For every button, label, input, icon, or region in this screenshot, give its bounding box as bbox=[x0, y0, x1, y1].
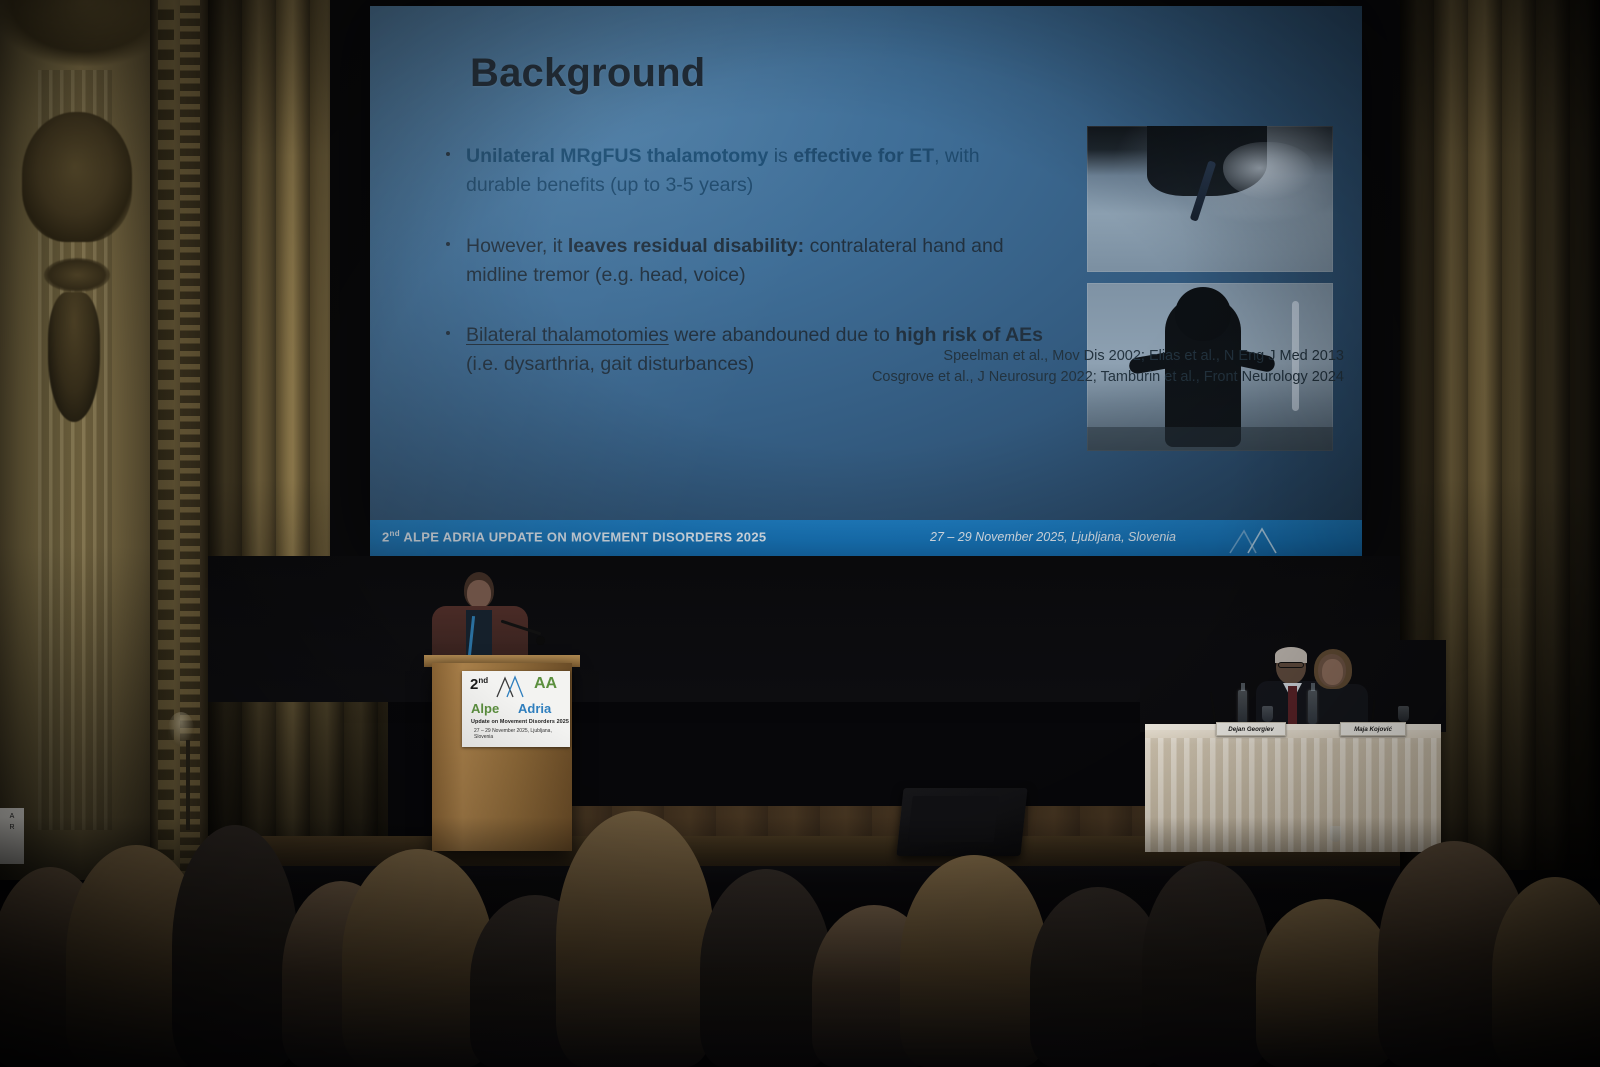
lectern-sign-ordinal: 2nd bbox=[470, 676, 488, 693]
bullet-3-mid: were abandouned due to bbox=[669, 324, 896, 346]
bullet-2-bold: leaves residual disability: bbox=[568, 235, 804, 257]
auditorium-scene: Background Unilateral MRgFUS thalamotomy… bbox=[0, 0, 1600, 1067]
speaker-face bbox=[467, 580, 491, 608]
panelist-2-face bbox=[1322, 659, 1343, 685]
fluted-pilaster-detail bbox=[38, 70, 112, 830]
audience-head bbox=[900, 855, 1048, 1067]
lectern-sign-dates: 27 – 29 November 2025, Ljubljana, Sloven… bbox=[474, 728, 570, 740]
lectern-ordinal-suffix: nd bbox=[478, 676, 488, 685]
patient-head-shape bbox=[1175, 287, 1231, 341]
bullet-item-1: Unilateral MRgFUS thalamotomy is effecti… bbox=[436, 142, 1046, 200]
slide-image-hand-writing bbox=[1087, 126, 1333, 272]
audience-foreground bbox=[0, 817, 1600, 1067]
lectern-sign-subtitle: Update on Movement Disorders 2025 bbox=[471, 719, 569, 725]
projection-screen: Background Unilateral MRgFUS thalamotomy… bbox=[370, 6, 1362, 558]
wall-sconce-lamp bbox=[168, 712, 194, 746]
plaster-floral-drop-ornament-icon bbox=[48, 292, 100, 422]
plaster-medallion-ornament-icon bbox=[22, 112, 132, 242]
panelist-1-hair bbox=[1275, 647, 1307, 663]
slide-footer-ordinal-suffix: nd bbox=[390, 529, 400, 538]
bullet-3-bold: high risk of AEs bbox=[895, 324, 1043, 346]
slide-footer-event: 2nd ALPE ADRIA UPDATE ON MOVEMENT DISORD… bbox=[382, 529, 766, 544]
nameplate-panelist-2: Maja Kojović bbox=[1340, 722, 1406, 736]
water-bottle-2 bbox=[1308, 690, 1317, 724]
slide-citations: Speelman et al., Mov Dis 2002; Elias et … bbox=[784, 346, 1344, 388]
microphone-icon bbox=[536, 636, 545, 645]
slide-footer-band: 2nd ALPE ADRIA UPDATE ON MOVEMENT DISORD… bbox=[370, 520, 1362, 558]
floor-shape bbox=[1087, 427, 1333, 451]
audience-head bbox=[1142, 861, 1270, 1067]
audience-head bbox=[1256, 899, 1396, 1067]
slide-footer-dates: 27 – 29 November 2025, Ljubljana, Sloven… bbox=[930, 530, 1176, 544]
water-glass-2 bbox=[1398, 706, 1409, 722]
slide-title: Background bbox=[470, 51, 705, 96]
bullet-1-mid: is bbox=[768, 145, 793, 167]
water-glass-1 bbox=[1262, 706, 1273, 722]
lectern-branding-sign: 2nd AA Alpe Adria Update on Movement Dis… bbox=[462, 671, 570, 747]
nameplate-panelist-1: Dejan Georgiev bbox=[1216, 722, 1286, 736]
bullet-3-underline: Bilateral thalamotomies bbox=[466, 324, 669, 346]
audience-head bbox=[556, 811, 714, 1067]
audience-head bbox=[172, 825, 298, 1067]
bullet-1-bold: effective for ET bbox=[793, 145, 934, 167]
lectern-sign-alpe: Alpe bbox=[471, 701, 499, 716]
mountain-peaks-logo-icon bbox=[1226, 523, 1286, 555]
presentation-slide: Background Unilateral MRgFUS thalamotomy… bbox=[370, 6, 1362, 558]
plaster-bow-ornament-icon bbox=[44, 258, 110, 292]
bullet-1-lead: Unilateral MRgFUS thalamotomy bbox=[466, 145, 768, 167]
eyeglasses-icon bbox=[1278, 662, 1304, 668]
slide-footer-ordinal: 2 bbox=[382, 529, 390, 544]
ornate-wall-panel bbox=[0, 0, 168, 880]
slide-footer-event-name: ALPE ADRIA UPDATE ON MOVEMENT DISORDERS … bbox=[403, 529, 766, 544]
bullet-item-2: However, it leaves residual disability: … bbox=[436, 232, 1046, 290]
bullet-2-head: However, it bbox=[466, 235, 568, 257]
carved-pilaster-column bbox=[150, 0, 208, 900]
panelist-1-tie bbox=[1288, 686, 1297, 728]
lectern-sign-aa: AA bbox=[534, 675, 557, 693]
bullet-3-tail: (i.e. dysarthria, gait disturbances) bbox=[466, 353, 754, 375]
water-bottle-1 bbox=[1238, 690, 1247, 724]
lectern-mountain-logo-icon bbox=[496, 674, 530, 698]
citation-line-1: Speelman et al., Mov Dis 2002; Elias et … bbox=[784, 346, 1344, 367]
citation-line-2: Cosgrove et al., J Neurosurg 2022; Tambu… bbox=[784, 367, 1344, 388]
lectern-sign-adria: Adria bbox=[518, 701, 551, 716]
